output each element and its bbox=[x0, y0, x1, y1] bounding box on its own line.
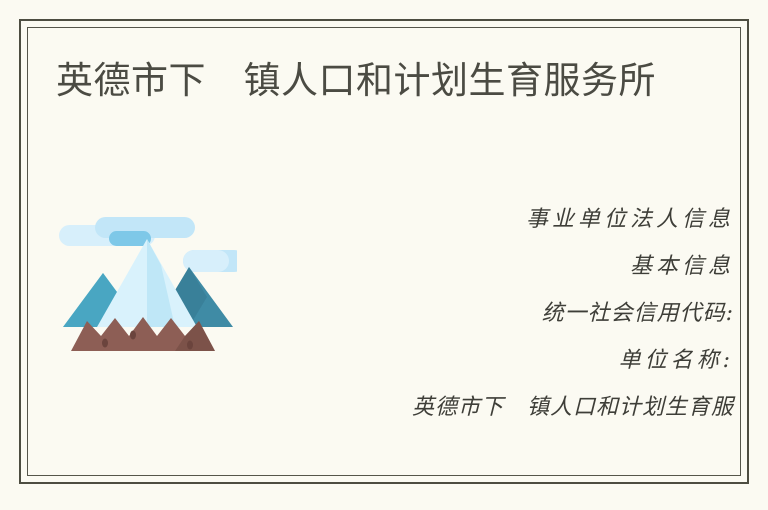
info-line-credit-code-label: 统一社会信用代码: bbox=[28, 290, 740, 337]
info-line-subheading: 基本信息 bbox=[28, 243, 740, 290]
document-page: 英德市下 镇人口和计划生育服务所 bbox=[0, 0, 768, 510]
page-content: 英德市下 镇人口和计划生育服务所 bbox=[28, 28, 740, 475]
info-line-unit-name-value: 英德市下 镇人口和计划生育服 bbox=[28, 384, 740, 431]
info-lines: 事业单位法人信息 基本信息 统一社会信用代码: 单位名称: 英德市下 镇人口和计… bbox=[28, 196, 740, 431]
info-line-unit-name-label: 单位名称: bbox=[28, 337, 740, 384]
page-title: 英德市下 镇人口和计划生育服务所 bbox=[56, 54, 676, 108]
info-line-heading: 事业单位法人信息 bbox=[28, 196, 740, 243]
